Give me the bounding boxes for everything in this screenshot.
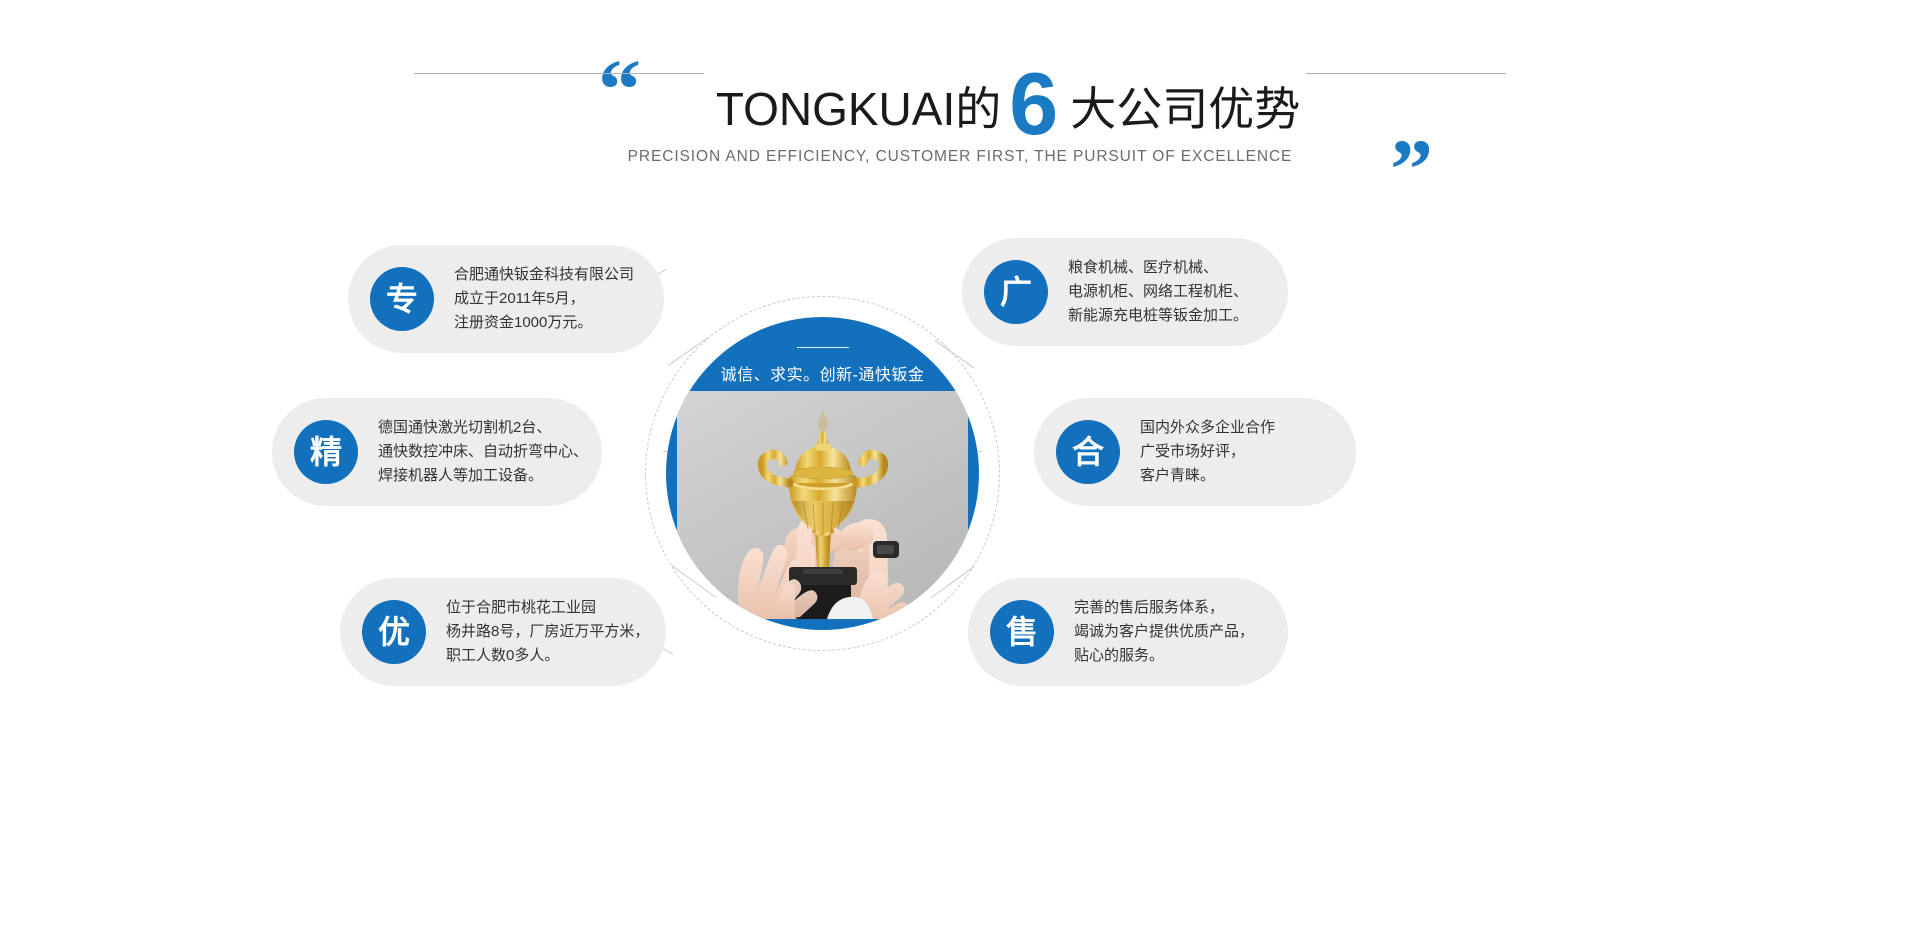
center-circle: 诚信、求实。创新-通快钣金 [666,317,979,630]
page-title: TONGKUAI的 6 大公司优势 [0,60,1920,132]
card-jing-text: 德国通快激光切割机2台、 通快数控冲床、自动折弯中心、 焊接机器人等加工设备。 [378,416,588,489]
title-number: 6 [1007,68,1060,140]
card-you-line-2: 杨井路8号，厂房近万平方米， [446,620,649,644]
title-rule-left [414,73,704,74]
title-suffix: 大公司优势 [1060,86,1306,132]
card-zhuan-line-3: 注册资金1000万元。 [454,311,634,335]
trophy-illustration [677,391,968,619]
card-guang-line-1: 粮食机械、医疗机械、 [1068,256,1248,280]
header: “ ” TONGKUAI的 6 大公司优势 PRECISION AND EFFI… [0,18,1920,178]
card-he-line-1: 国内外众多企业合作 [1140,416,1275,440]
card-guang[interactable]: 广 粮食机械、医疗机械、 电源机柜、网络工程机柜、 新能源充电桩等钣金加工。 [962,238,1288,346]
card-zhuan[interactable]: 专 合肥通快钣金科技有限公司 成立于2011年5月， 注册资金1000万元。 [348,245,664,353]
trophy-photo [677,391,968,619]
card-zhuan-line-1: 合肥通快钣金科技有限公司 [454,263,634,287]
card-guang-line-2: 电源机柜、网络工程机柜、 [1068,280,1248,304]
badge-jing-icon: 精 [294,420,358,484]
card-jing-line-3: 焊接机器人等加工设备。 [378,464,588,488]
card-guang-line-3: 新能源充电桩等钣金加工。 [1068,304,1248,328]
badge-he-icon: 合 [1056,420,1120,484]
center-caption: 诚信、求实。创新-通快钣金 [666,361,979,385]
card-zhuan-line-2: 成立于2011年5月， [454,287,634,311]
card-you-line-3: 职工人数0多人。 [446,644,649,668]
infographic-page: “ ” TONGKUAI的 6 大公司优势 PRECISION AND EFFI… [0,0,1920,951]
card-he[interactable]: 合 国内外众多企业合作 广受市场好评， 客户青睐。 [1034,398,1356,506]
card-shou-line-3: 贴心的服务。 [1074,644,1254,668]
card-he-line-2: 广受市场好评， [1140,440,1275,464]
card-he-line-3: 客户青睐。 [1140,464,1275,488]
card-shou-line-1: 完善的售后服务体系， [1074,596,1254,620]
card-you[interactable]: 优 位于合肥市桃花工业园 杨井路8号，厂房近万平方米， 职工人数0多人。 [340,578,666,686]
card-jing[interactable]: 精 德国通快激光切割机2台、 通快数控冲床、自动折弯中心、 焊接机器人等加工设备… [272,398,602,506]
quote-close-icon: ” [1390,126,1433,212]
card-shou-text: 完善的售后服务体系， 竭诚为客户提供优质产品， 贴心的服务。 [1074,596,1254,669]
badge-guang-icon: 广 [984,260,1048,324]
badge-you-icon: 优 [362,600,426,664]
title-rule-right [1306,73,1506,74]
page-subtitle: PRECISION AND EFFICIENCY, CUSTOMER FIRST… [0,148,1920,166]
card-shou-line-2: 竭诚为客户提供优质产品， [1074,620,1254,644]
badge-zhuan-icon: 专 [370,267,434,331]
card-you-text: 位于合肥市桃花工业园 杨井路8号，厂房近万平方米， 职工人数0多人。 [446,596,649,669]
badge-shou-icon: 售 [990,600,1054,664]
card-jing-line-2: 通快数控冲床、自动折弯中心、 [378,440,588,464]
card-you-line-1: 位于合肥市桃花工业园 [446,596,649,620]
card-zhuan-text: 合肥通快钣金科技有限公司 成立于2011年5月， 注册资金1000万元。 [454,263,634,336]
card-guang-text: 粮食机械、医疗机械、 电源机柜、网络工程机柜、 新能源充电桩等钣金加工。 [1068,256,1248,329]
card-he-text: 国内外众多企业合作 广受市场好评， 客户青睐。 [1140,416,1275,489]
title-prefix: TONGKUAI的 [706,86,1007,132]
center-divider [797,347,849,348]
card-shou[interactable]: 售 完善的售后服务体系， 竭诚为客户提供优质产品， 贴心的服务。 [968,578,1288,686]
card-jing-line-1: 德国通快激光切割机2台、 [378,416,588,440]
